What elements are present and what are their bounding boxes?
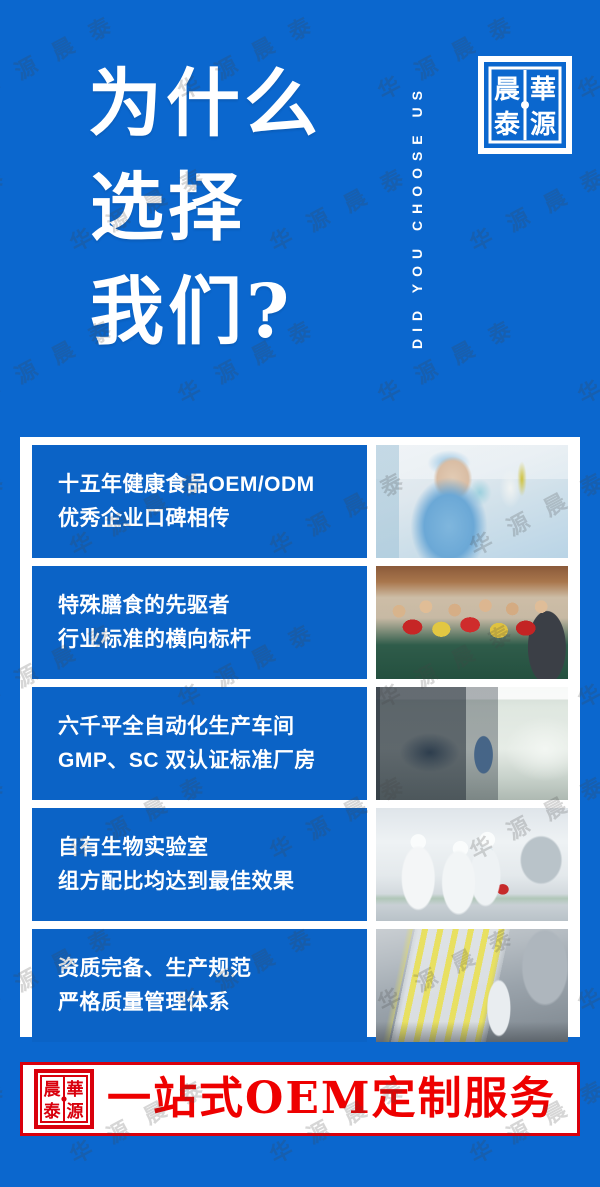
svg-text:晨: 晨 bbox=[44, 1080, 62, 1100]
page-title-line-2: 选择 bbox=[88, 156, 322, 260]
feature-card-text: 六千平全自动化生产车间 GMP、SC 双认证标准厂房 bbox=[32, 687, 367, 800]
brand-seal-white: 華 源 晨 泰 bbox=[477, 53, 573, 157]
watermark-text: 华 源 晨 泰 bbox=[0, 158, 14, 258]
feature-line: 组方配比均达到最佳效果 bbox=[58, 865, 367, 899]
feature-line: GMP、SC 双认证标准厂房 bbox=[58, 744, 367, 778]
features-panel: 十五年健康食品OEM/ODM 优秀企业口碑相传 特殊膳食的先驱者 行业标准的横向… bbox=[20, 437, 580, 1037]
svg-text:晨: 晨 bbox=[494, 75, 521, 105]
feature-line: 特殊膳食的先驱者 bbox=[58, 589, 367, 623]
watermark-text: 华 源 晨 泰 bbox=[0, 1070, 14, 1170]
feature-line: 严格质量管理体系 bbox=[58, 986, 367, 1020]
poster-root: W H Y 为什么 选择 我们? DID YOU CHOOSE US 華 源 晨… bbox=[0, 0, 600, 1187]
tablet-packaging-machine-photo bbox=[376, 929, 568, 1042]
page-title: 为什么 选择 我们? bbox=[88, 52, 322, 364]
svg-text:源: 源 bbox=[530, 110, 556, 140]
watermark-text: 华 源 晨 泰 bbox=[0, 766, 14, 866]
svg-text:源: 源 bbox=[67, 1101, 84, 1122]
brand-seal-red: 華 源 晨 泰 bbox=[33, 1068, 95, 1130]
feature-card[interactable]: 六千平全自动化生产车间 GMP、SC 双认证标准厂房 bbox=[32, 687, 568, 800]
feature-line: 自有生物实验室 bbox=[58, 831, 367, 865]
feature-card[interactable]: 资质完备、生产规范 严格质量管理体系 bbox=[32, 929, 568, 1042]
feature-card-text: 资质完备、生产规范 严格质量管理体系 bbox=[32, 929, 367, 1042]
svg-text:華: 華 bbox=[530, 75, 556, 105]
feature-line: 行业标准的横向标杆 bbox=[58, 623, 367, 657]
page-title-line-3: 我们? bbox=[88, 260, 322, 364]
footer-banner-text: 一站式OEM定制服务 bbox=[107, 1077, 556, 1121]
feature-line: 优秀企业口碑相传 bbox=[58, 502, 367, 536]
svg-text:泰: 泰 bbox=[494, 110, 521, 140]
svg-text:華: 華 bbox=[67, 1080, 84, 1100]
conference-audience-photo bbox=[376, 566, 568, 679]
vertical-subtitle-text: DID YOU CHOOSE US bbox=[409, 84, 425, 349]
feature-line: 十五年健康食品OEM/ODM bbox=[58, 468, 367, 502]
feature-card-text: 十五年健康食品OEM/ODM 优秀企业口碑相传 bbox=[32, 445, 367, 558]
production-line-workers-photo bbox=[376, 808, 568, 921]
feature-card[interactable]: 十五年健康食品OEM/ODM 优秀企业口碑相传 bbox=[32, 445, 568, 558]
lab-technician-pipetting-photo bbox=[376, 445, 568, 558]
feature-line: 六千平全自动化生产车间 bbox=[58, 710, 367, 744]
feature-card[interactable]: 自有生物实验室 组方配比均达到最佳效果 bbox=[32, 808, 568, 921]
feature-card-text: 特殊膳食的先驱者 行业标准的横向标杆 bbox=[32, 566, 367, 679]
watermark-text: 华 源 晨 泰 bbox=[0, 462, 14, 562]
feature-card[interactable]: 特殊膳食的先驱者 行业标准的横向标杆 bbox=[32, 566, 568, 679]
footer-banner[interactable]: 華 源 晨 泰 一站式OEM定制服务 bbox=[20, 1062, 580, 1136]
svg-text:泰: 泰 bbox=[44, 1101, 62, 1122]
cleanroom-corridor-photo bbox=[376, 687, 568, 800]
feature-line: 资质完备、生产规范 bbox=[58, 952, 367, 986]
vertical-subtitle: DID YOU CHOOSE US bbox=[404, 26, 430, 406]
feature-card-text: 自有生物实验室 组方配比均达到最佳效果 bbox=[32, 808, 367, 921]
page-title-line-1: 为什么 bbox=[88, 52, 322, 156]
